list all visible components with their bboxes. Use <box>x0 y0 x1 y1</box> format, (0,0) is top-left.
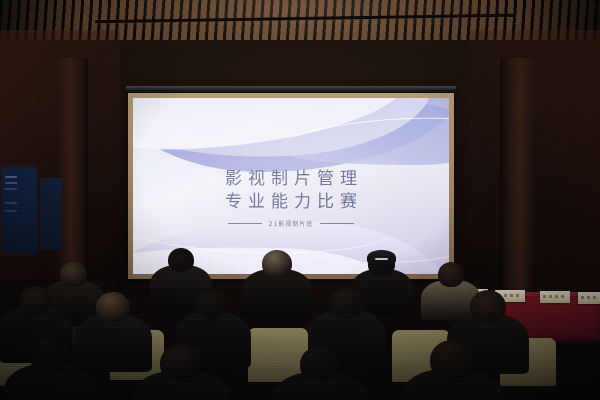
slide-subtitle-row: 21影视制片班 <box>133 219 449 228</box>
audience-member-head <box>430 340 474 380</box>
audience-member-torso <box>74 314 152 372</box>
wall-display-secondary-icon <box>40 178 62 250</box>
audience-member-head <box>168 248 194 272</box>
baseball-cap-icon <box>367 250 396 265</box>
namecard <box>578 292 600 304</box>
wall-display-icon <box>2 168 36 252</box>
audience-member-head <box>30 338 70 374</box>
audience-member-head <box>20 286 52 315</box>
auditorium-photo: 影视制片管理 专业能力比赛 21影视制片班 <box>0 0 600 400</box>
screen-roller-bar <box>126 86 456 93</box>
slide-rule-right-icon <box>320 223 354 224</box>
audience-member-head <box>330 288 364 319</box>
audience-member-head <box>262 250 292 277</box>
wall-red-accent-right <box>470 30 600 290</box>
slide-title-line-1: 影视制片管理 <box>133 168 449 190</box>
audience-member-head <box>470 290 506 323</box>
audience-member-head <box>300 346 340 382</box>
audience-member-head <box>438 262 464 287</box>
audience-member-head <box>160 344 202 382</box>
slide-text-block: 影视制片管理 专业能力比赛 21影视制片班 <box>133 168 449 228</box>
audience-member-head <box>60 262 87 287</box>
audience-member-head <box>96 292 130 322</box>
slide-title-line-2: 专业能力比赛 <box>133 191 449 213</box>
cap-logo-icon <box>375 258 388 260</box>
audience-member-head <box>196 290 229 320</box>
namecard <box>540 291 570 303</box>
slide-rule-left-icon <box>228 223 262 224</box>
slide-subtitle: 21影视制片班 <box>269 219 314 228</box>
